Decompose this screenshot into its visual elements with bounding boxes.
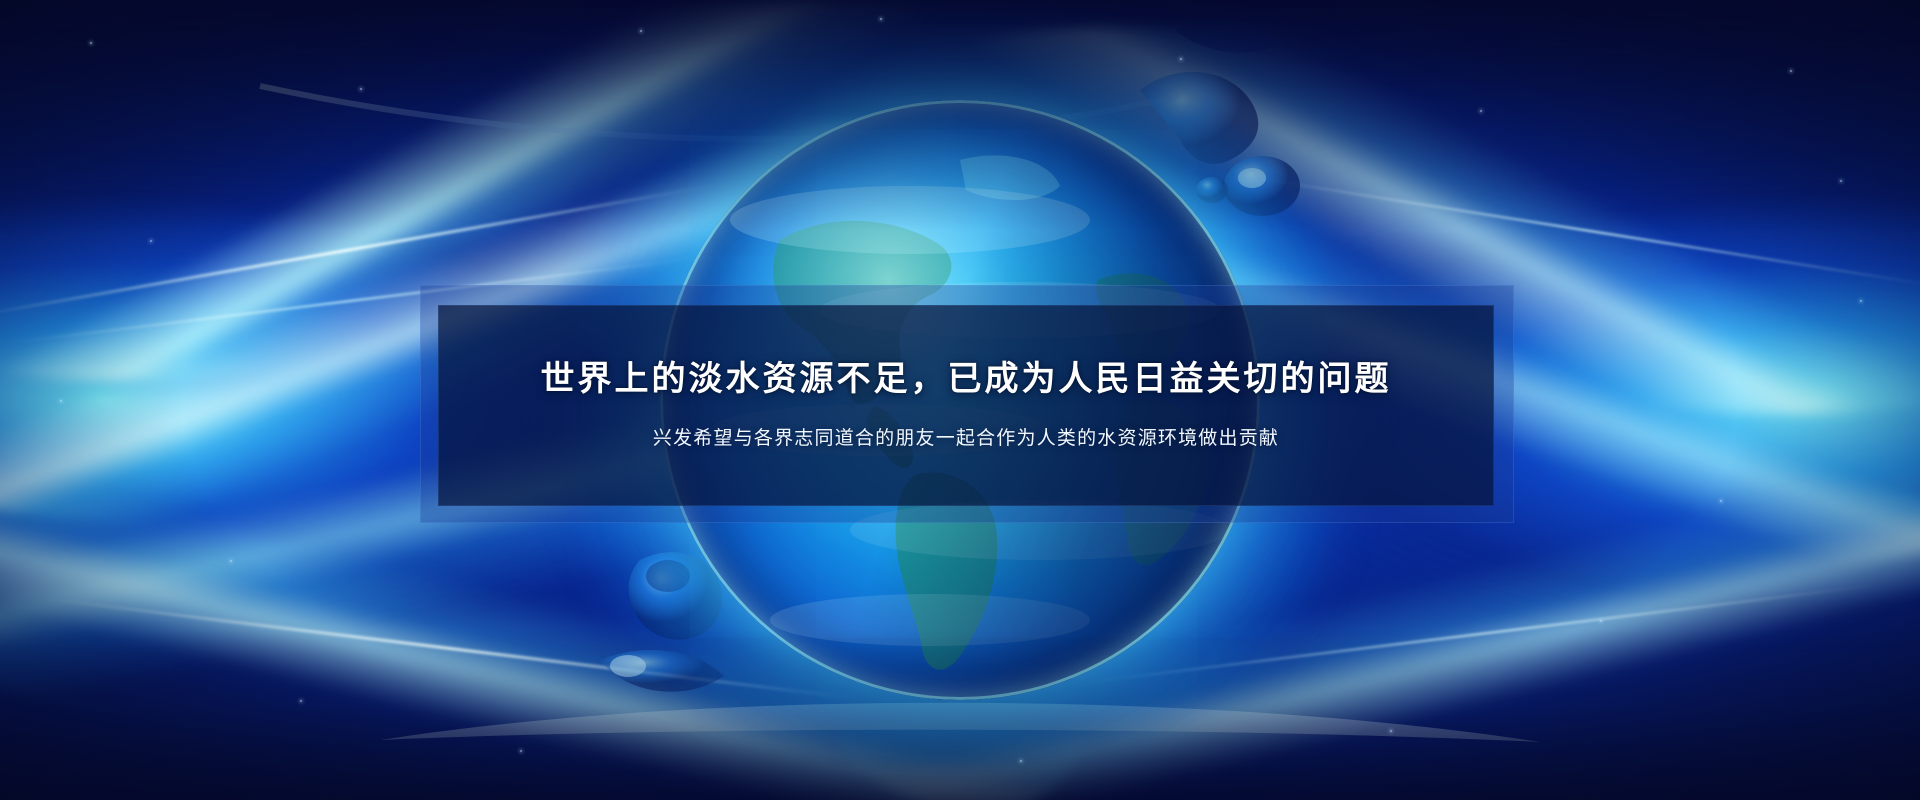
banner-headline: 世界上的淡水资源不足，已成为人民日益关切的问题 bbox=[541, 359, 1392, 400]
hero-banner: 世界上的淡水资源不足，已成为人民日益关切的问题 兴发希望与各界志同道合的朋友一起… bbox=[0, 0, 1920, 800]
banner-subheadline: 兴发希望与各界志同道合的朋友一起合作为人类的水资源环境做出贡献 bbox=[653, 426, 1279, 453]
banner-text-panel: 世界上的淡水资源不足，已成为人民日益关切的问题 兴发希望与各界志同道合的朋友一起… bbox=[438, 305, 1494, 506]
